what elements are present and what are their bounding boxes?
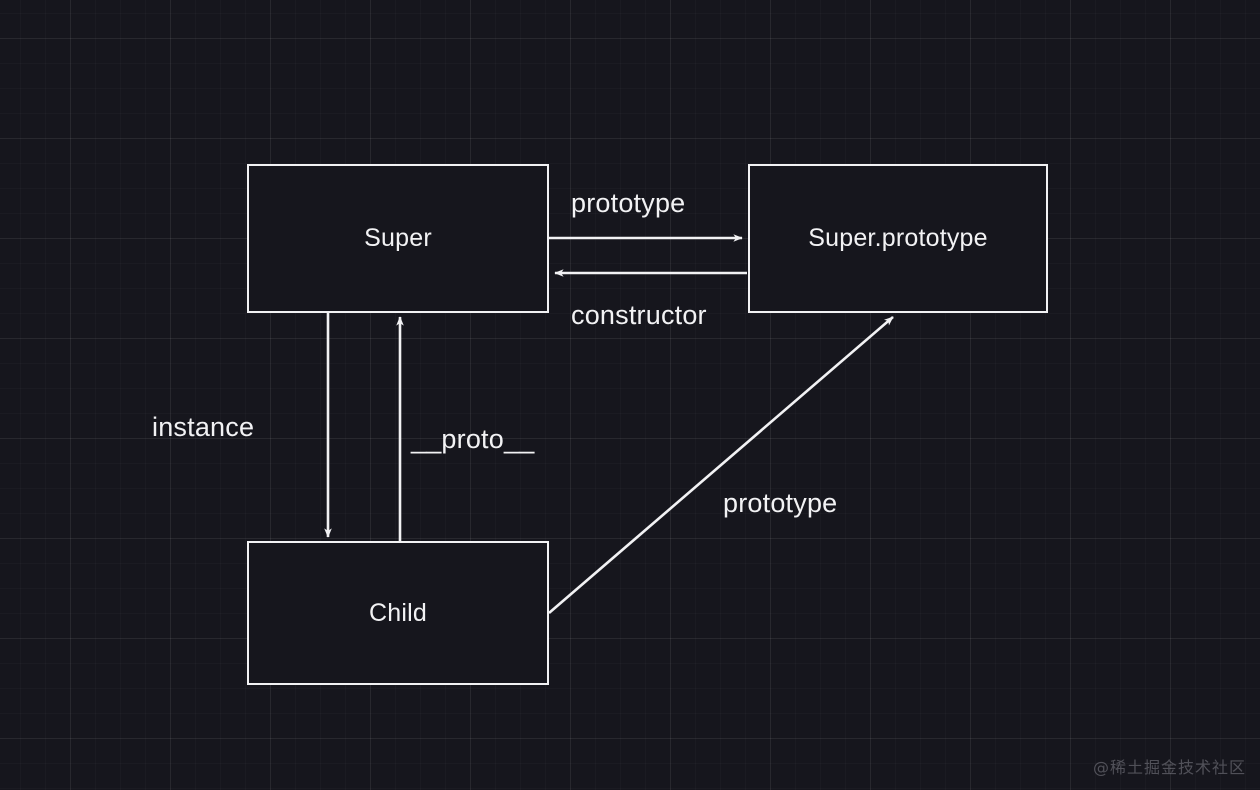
node-child[interactable]: Child (247, 541, 549, 685)
diagram-edges (0, 0, 1260, 790)
edge-label-prototype-diagonal: prototype (723, 488, 837, 519)
edge-prototype-child-to-superprototype (549, 317, 893, 613)
node-super-prototype-label: Super.prototype (808, 224, 988, 253)
edge-label-constructor: constructor (571, 300, 707, 331)
node-super-prototype[interactable]: Super.prototype (748, 164, 1048, 313)
node-child-label: Child (369, 599, 427, 628)
diagram-canvas: Super Super.prototype Child prototype co… (0, 0, 1260, 790)
edge-label-prototype-top: prototype (571, 188, 685, 219)
edge-label-proto: __proto__ (411, 424, 534, 455)
node-super-label: Super (364, 224, 432, 253)
watermark: @稀土掘金技术社区 (1093, 754, 1246, 778)
node-super[interactable]: Super (247, 164, 549, 313)
edge-label-instance: instance (152, 412, 254, 443)
